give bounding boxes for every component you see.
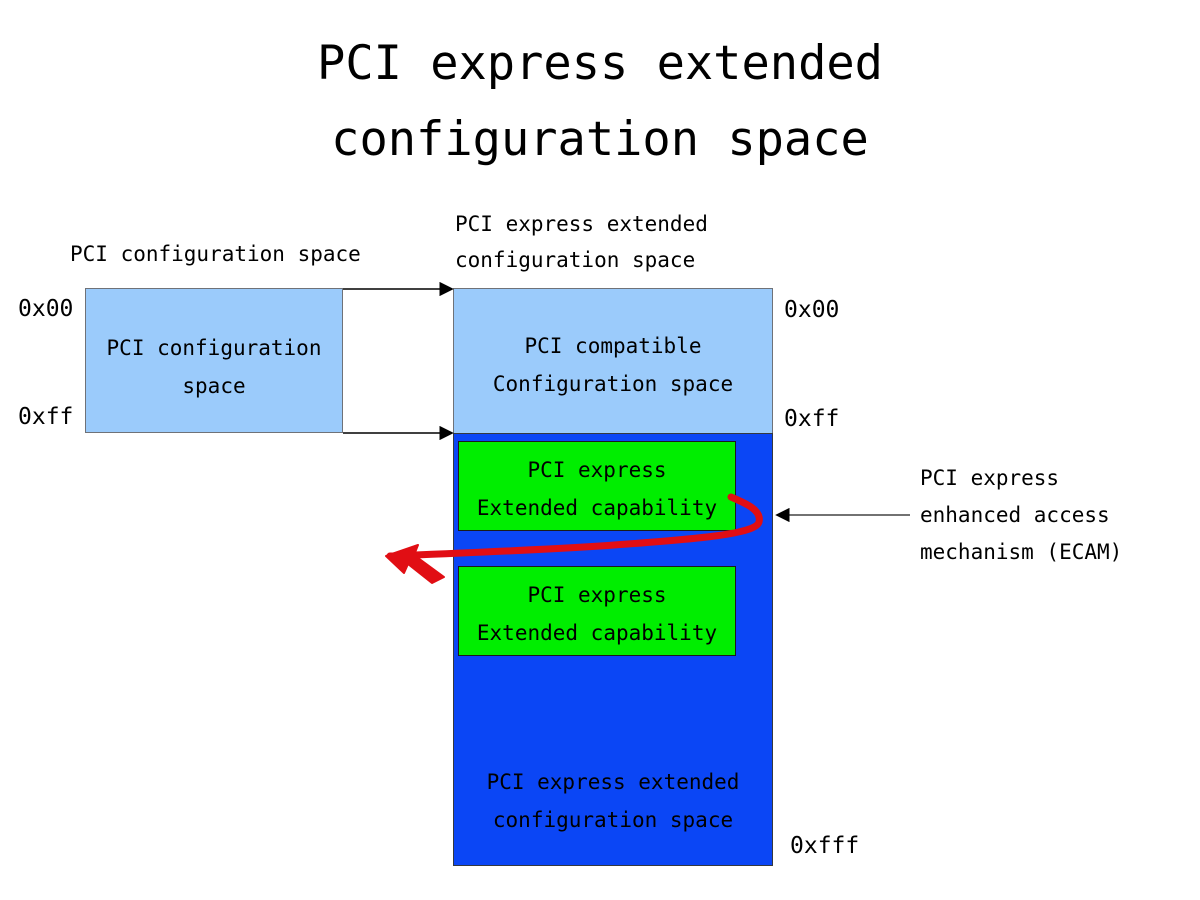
pci-configuration-space-label: PCI configuration space: [86, 329, 342, 405]
address-label-right-compat-end: 0xff: [784, 406, 839, 432]
caption-pci-configuration-space: PCI configuration space: [70, 236, 400, 272]
extended-capability-box-1: PCI express Extended capability: [458, 441, 736, 531]
pci-compatible-configuration-space-label: PCI compatible Configuration space: [454, 327, 772, 403]
pci-configuration-space-box: PCI configuration space: [85, 288, 343, 433]
extended-capability-box-2: PCI express Extended capability: [458, 566, 736, 656]
address-label-left-end: 0xff: [18, 404, 73, 430]
address-label-right-extended-end: 0xfff: [790, 833, 859, 859]
page-title: PCI express extended configuration space: [0, 26, 1200, 178]
extended-capability-label-1: PCI express Extended capability: [459, 451, 735, 527]
pci-express-extended-configuration-space-label: PCI express extended configuration space: [454, 763, 772, 839]
address-label-left-start: 0x00: [18, 296, 73, 322]
diagram-canvas: PCI express extended configuration space…: [0, 0, 1200, 900]
extended-capability-label-2: PCI express Extended capability: [459, 576, 735, 652]
caption-pci-express-extended-configuration-space: PCI express extended configuration space: [455, 206, 785, 278]
pci-compatible-configuration-space-box: PCI compatible Configuration space: [453, 288, 773, 434]
caption-ecam: PCI express enhanced access mechanism (E…: [920, 460, 1180, 571]
address-label-right-start: 0x00: [784, 297, 839, 323]
